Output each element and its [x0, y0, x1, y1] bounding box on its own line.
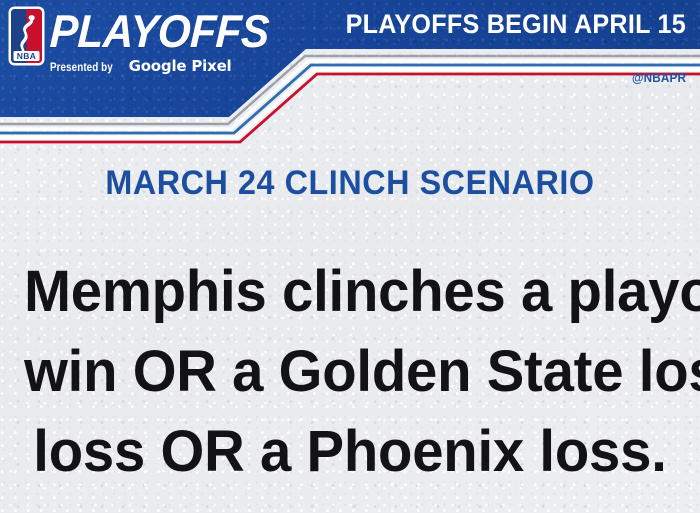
scenario-line-1: Memphis clinches a playoff spot with a	[24, 252, 676, 332]
brand-lockup: NBA PLAYOFFS Presented by Google Pixel	[8, 6, 288, 75]
presented-by-label: Presented by	[50, 60, 113, 74]
scenario-line-2: win OR a Golden State loss OR a Lakers	[24, 332, 676, 412]
sponsor-name: Google Pixel	[129, 57, 232, 75]
scenario-title: MARCH 24 CLINCH SCENARIO	[18, 164, 683, 202]
scenario-line-3: loss OR a Phoenix loss.	[24, 412, 676, 492]
presented-by-row: Presented by Google Pixel	[50, 57, 288, 75]
playoffs-wordmark: PLAYOFFS	[49, 8, 270, 54]
svg-text:NBA: NBA	[17, 51, 37, 61]
social-handle: @NBAPR	[632, 70, 686, 85]
nba-playoffs-clinch-graphic: NBA PLAYOFFS Presented by Google Pixel P…	[0, 0, 700, 513]
nba-logo-icon: NBA	[8, 6, 45, 66]
scenario-body: Memphis clinches a playoff spot with a w…	[14, 252, 686, 492]
playoffs-begin-date: PLAYOFFS BEGIN APRIL 15	[346, 11, 686, 38]
